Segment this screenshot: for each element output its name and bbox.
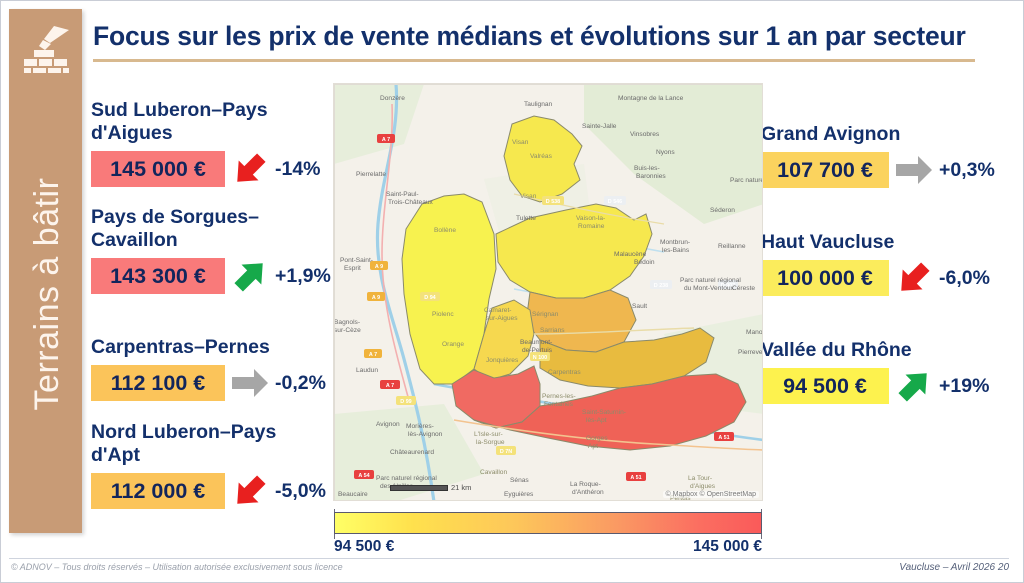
svg-text:Jonquières: Jonquières <box>486 357 519 364</box>
change-pct: +0,3% <box>939 159 995 182</box>
svg-text:Baronnies: Baronnies <box>636 173 666 180</box>
svg-text:Donzère: Donzère <box>380 95 405 102</box>
svg-text:Reillanne: Reillanne <box>718 243 746 250</box>
svg-text:Esprit: Esprit <box>344 265 361 272</box>
svg-text:A 51: A 51 <box>630 475 641 481</box>
svg-text:lès-Avignon: lès-Avignon <box>408 431 443 438</box>
svg-text:d'Anthéron: d'Anthéron <box>572 489 604 496</box>
svg-text:Sarrians: Sarrians <box>540 327 565 334</box>
svg-text:D 546: D 546 <box>608 199 622 205</box>
svg-text:Montbrun-: Montbrun- <box>660 239 690 246</box>
svg-text:Châteaurenard: Châteaurenard <box>390 449 434 456</box>
page-title: Focus sur les prix de vente médians et é… <box>93 21 983 52</box>
svg-text:Tulette: Tulette <box>516 215 536 222</box>
svg-text:Malaucène: Malaucène <box>614 251 647 258</box>
svg-text:D 7N: D 7N <box>500 449 512 455</box>
trend-arrow-flat-icon <box>225 363 275 403</box>
svg-text:N 100: N 100 <box>533 355 547 361</box>
change-pct: -14% <box>275 158 321 181</box>
price-box: 107 700 € <box>761 152 889 188</box>
svg-text:A 9: A 9 <box>375 264 383 270</box>
change-pct: +19% <box>939 375 989 398</box>
svg-text:Manosque: Manosque <box>746 329 763 336</box>
svg-text:Bédoin: Bédoin <box>634 259 655 266</box>
sector-sud-luberon-pays-daigues: Sud Luberon–Pays d'Aigues 145 000 € -14% <box>91 99 331 189</box>
svg-text:Morières-: Morières- <box>406 423 434 430</box>
svg-text:Valréas: Valréas <box>530 153 553 160</box>
svg-text:A 54: A 54 <box>358 473 369 479</box>
trend-arrow-down-icon <box>225 149 275 189</box>
slide-root: Terrains à bâtir Focus sur les prix de v… <box>0 0 1024 583</box>
svg-text:Parc naturel régional: Parc naturel régional <box>680 277 741 284</box>
svg-text:D 94: D 94 <box>424 295 435 301</box>
svg-text:Saint-Paul-: Saint-Paul- <box>386 191 419 198</box>
header-divider <box>93 59 975 62</box>
svg-text:Pont-Saint-: Pont-Saint- <box>340 257 373 264</box>
change-pct: -6,0% <box>939 267 990 290</box>
sector-label: Nord Luberon–Pays d'Apt <box>91 421 331 467</box>
svg-text:sur-Cèze: sur-Cèze <box>334 327 361 334</box>
svg-text:la-Sorgue: la-Sorgue <box>476 439 505 446</box>
sidebar-title: Terrains à bâtir <box>17 44 77 544</box>
svg-text:de-Pertuis: de-Pertuis <box>522 347 553 354</box>
svg-text:La Tour-: La Tour- <box>688 475 712 482</box>
price-box: 112 000 € <box>91 473 225 509</box>
scale-bar-line <box>390 485 448 491</box>
scale-bar-label: 21 km <box>451 483 471 492</box>
footer-divider <box>9 558 1009 559</box>
svg-text:Apt: Apt <box>588 443 598 450</box>
svg-text:Séderon: Séderon <box>710 207 735 214</box>
svg-text:D 238: D 238 <box>654 283 668 289</box>
svg-text:A 51: A 51 <box>718 435 729 441</box>
legend-max-label: 145 000 € <box>652 538 762 556</box>
svg-text:D 538: D 538 <box>546 199 560 205</box>
sector-label: Grand Avignon <box>761 123 1011 146</box>
svg-text:Eyguières: Eyguières <box>504 491 534 498</box>
svg-text:Visan: Visan <box>520 193 537 200</box>
trend-arrow-down-icon <box>889 258 939 298</box>
change-pct: -5,0% <box>275 480 326 503</box>
svg-text:Taulignan: Taulignan <box>524 101 553 108</box>
svg-text:Saint-Saturnin-: Saint-Saturnin- <box>582 409 626 416</box>
svg-text:Laudun: Laudun <box>356 367 378 374</box>
sector-carpentras-pernes: Carpentras–Pernes 112 100 € -0,2% <box>91 336 331 403</box>
svg-text:Piolenc: Piolenc <box>432 311 454 318</box>
svg-text:lès-Apt: lès-Apt <box>586 417 607 424</box>
svg-text:La Roque-: La Roque- <box>570 481 601 488</box>
sector-vallee-du-rhone: Vallée du Rhône 94 500 € +19% <box>761 339 1011 406</box>
map-attribution: © Mapbox © OpenStreetMap <box>663 491 759 498</box>
svg-text:Carpentras: Carpentras <box>548 369 581 376</box>
price-box: 112 100 € <box>91 365 225 401</box>
svg-text:Nyons: Nyons <box>656 149 675 156</box>
change-pct: -0,2% <box>275 372 326 395</box>
svg-text:A 7: A 7 <box>386 383 394 389</box>
svg-text:Beaumont-: Beaumont- <box>520 339 552 346</box>
svg-text:Trois-Châteaux: Trois-Châteaux <box>388 199 434 206</box>
svg-text:d'Aigues: d'Aigues <box>690 483 716 490</box>
svg-text:Cavaillon: Cavaillon <box>480 469 507 476</box>
svg-text:Buis-les-: Buis-les- <box>634 165 660 172</box>
svg-text:du Mont-Ventoux: du Mont-Ventoux <box>684 285 735 292</box>
trend-arrow-up-icon <box>889 366 939 406</box>
svg-text:Avignon: Avignon <box>376 421 400 428</box>
svg-text:Orange: Orange <box>442 341 464 348</box>
svg-text:les-Bains: les-Bains <box>662 247 690 254</box>
price-box: 143 300 € <box>91 258 225 294</box>
sector-label: Pays de Sorgues– Cavaillon <box>91 206 331 252</box>
sector-grand-avignon: Grand Avignon 107 700 € +0,3% <box>761 123 1011 190</box>
price-box: 100 000 € <box>761 260 889 296</box>
sector-haut-vaucluse: Haut Vaucluse 100 000 € -6,0% <box>761 231 1011 298</box>
svg-text:Sérignan: Sérignan <box>532 311 559 318</box>
sector-nord-luberon-pays-dapt: Nord Luberon–Pays d'Apt 112 000 € -5,0% <box>91 421 331 511</box>
trend-arrow-up-icon <box>225 256 275 296</box>
sector-label: Haut Vaucluse <box>761 231 1011 254</box>
change-pct: +1,9% <box>275 265 331 288</box>
svg-text:Bagnols-: Bagnols- <box>334 319 360 326</box>
sidebar: Terrains à bâtir <box>9 9 82 533</box>
svg-text:D 99: D 99 <box>400 399 411 405</box>
svg-text:Vaison-la-: Vaison-la- <box>576 215 605 222</box>
svg-text:Montagne de la Lance: Montagne de la Lance <box>618 95 684 102</box>
svg-text:Fontaines: Fontaines <box>544 401 574 408</box>
choropleth-map[interactable]: A 7 A 9 A 9 A 7 D 94 D 538 D 546 D 238 N… <box>333 83 763 501</box>
sector-pays-de-sorgues-cavaillon: Pays de Sorgues– Cavaillon 143 300 € +1,… <box>91 206 331 296</box>
svg-text:Vinsobres: Vinsobres <box>630 131 660 138</box>
price-box: 145 000 € <box>91 151 225 187</box>
svg-text:Sénas: Sénas <box>510 477 529 484</box>
svg-text:Beaucaire: Beaucaire <box>338 491 368 498</box>
trend-arrow-down-icon <box>225 471 275 511</box>
svg-text:sur-Aigues: sur-Aigues <box>486 315 518 322</box>
svg-text:Camaret-: Camaret- <box>484 307 511 314</box>
sector-label: Sud Luberon–Pays d'Aigues <box>91 99 331 145</box>
map-scale-bar: 21 km <box>390 483 471 492</box>
legend-colorbar <box>334 512 762 534</box>
footer-copyright: © ADNOV – Tous droits réservés – Utilisa… <box>11 562 343 572</box>
footer-meta: Vaucluse – Avril 2026 20 <box>899 562 1009 573</box>
svg-text:Parc naturel régional: Parc naturel régional <box>376 475 437 482</box>
svg-text:Gorges: Gorges <box>586 435 608 442</box>
svg-text:Visan: Visan <box>512 139 529 146</box>
svg-text:L'Isle-sur-: L'Isle-sur- <box>474 431 503 438</box>
svg-text:A 7: A 7 <box>369 352 377 358</box>
svg-text:Pierrelatte: Pierrelatte <box>356 171 386 178</box>
sector-label: Carpentras–Pernes <box>91 336 331 359</box>
svg-text:Sainte-Jalle: Sainte-Jalle <box>582 123 617 130</box>
svg-text:Pernes-les-: Pernes-les- <box>542 393 576 400</box>
svg-text:Sault: Sault <box>632 303 647 310</box>
svg-text:Parc naturel régional: Parc naturel régional <box>730 177 763 184</box>
price-box: 94 500 € <box>761 368 889 404</box>
sector-label: Vallée du Rhône <box>761 339 1011 362</box>
svg-text:Céreste: Céreste <box>732 285 755 292</box>
svg-text:Bollène: Bollène <box>434 227 456 234</box>
svg-text:A 7: A 7 <box>382 137 390 143</box>
svg-text:Pierrevert: Pierrevert <box>738 349 763 356</box>
legend-min-label: 94 500 € <box>334 538 394 556</box>
svg-text:A 9: A 9 <box>372 295 380 301</box>
svg-text:Romaine: Romaine <box>578 223 605 230</box>
trend-arrow-flat-icon <box>889 150 939 190</box>
